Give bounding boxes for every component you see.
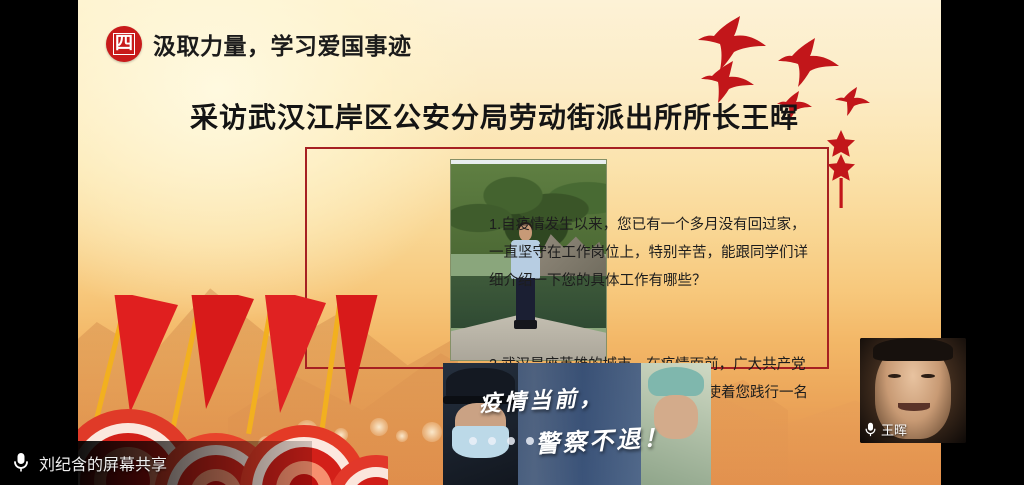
participant-video-thumbnail[interactable]: 王晖 (860, 338, 966, 443)
banner-police-figure (443, 363, 518, 485)
microphone-icon[interactable] (12, 452, 30, 474)
banner-dot (469, 437, 477, 445)
banner-dot (488, 437, 496, 445)
banner-dot (507, 437, 515, 445)
section-badge-label: 四 (113, 33, 135, 55)
bokeh-dot (296, 420, 318, 442)
bokeh-dot (396, 430, 408, 442)
police-banner-image: 疫情当前， 警察不退！ (443, 363, 711, 485)
banner-dot (526, 437, 534, 445)
bokeh-dot (370, 418, 388, 436)
thumbnail-eye-right (921, 374, 935, 378)
question-item-1: 1.自疫情发生以来，您已有一个多月没有回过家，一直坚守在工作岗位上，特别辛苦，能… (489, 211, 811, 295)
medical-cap (648, 367, 704, 396)
screen-share-owner-label: 刘纪含的屏幕共享 (39, 451, 167, 475)
banner-dot-row (469, 437, 534, 445)
participant-name-overlay: 王晖 (864, 420, 907, 439)
bokeh-dot (334, 428, 348, 442)
bokeh-dot (422, 422, 442, 442)
section-header: 四 汲取力量，学习爱国事迹 (106, 26, 412, 62)
slide-title: 采访武汉江岸区公安分局劳动街派出所所长王晖 (78, 96, 941, 136)
thumbnail-hair (873, 338, 954, 361)
shared-slide: 四 汲取力量，学习爱国事迹 采访武汉江岸区公安分局劳动街派出所所长王晖 (78, 0, 941, 485)
banner-text-line-2: 警察不退！ (534, 417, 671, 459)
banner-text-line-1: 疫情当前， (478, 380, 605, 418)
microphone-icon[interactable] (864, 422, 877, 438)
screen-share-status-bar: 刘纪含的屏幕共享 (0, 441, 312, 485)
letterbox-left (0, 0, 78, 485)
section-badge: 四 (106, 26, 142, 62)
screen-share-stage: 四 汲取力量，学习爱国事迹 采访武汉江岸区公安分局劳动街派出所所长王晖 (0, 0, 1024, 485)
participant-name-label: 王晖 (881, 420, 907, 439)
section-heading: 汲取力量，学习爱国事迹 (153, 27, 412, 61)
thumbnail-eye-left (888, 374, 902, 378)
question-panel: 1.自疫情发生以来，您已有一个多月没有回过家，一直坚守在工作岗位上，特别辛苦，能… (305, 147, 829, 369)
